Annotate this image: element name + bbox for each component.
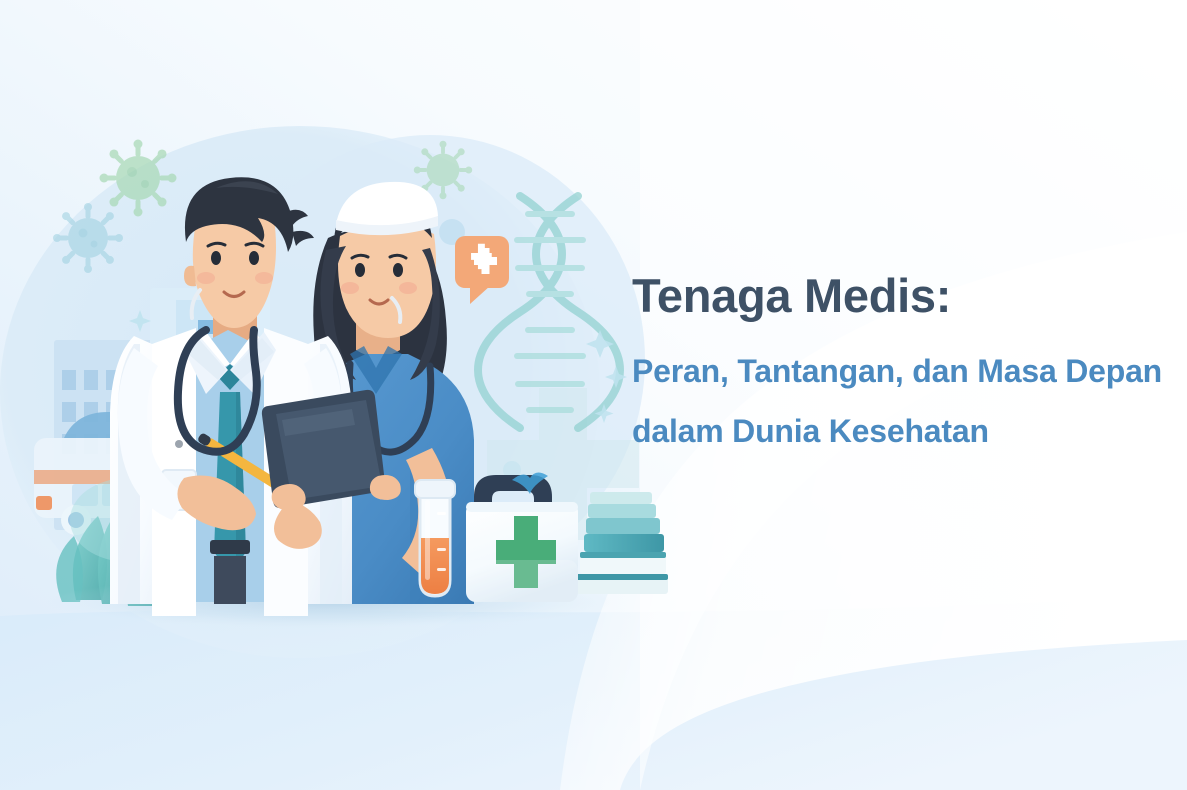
book-stack bbox=[576, 492, 668, 594]
page-title: Tenaga Medis: bbox=[632, 272, 1172, 319]
page-subtitle-line-2: dalam Dunia Kesehatan bbox=[632, 415, 1172, 447]
hero-banner: Tenaga Medis: Peran, Tantangan, dan Masa… bbox=[0, 0, 1187, 790]
hero-text-block: Tenaga Medis: Peran, Tantangan, dan Masa… bbox=[632, 272, 1172, 447]
test-tube bbox=[415, 480, 455, 596]
page-subtitle-line-1: Peran, Tantangan, dan Masa Depan bbox=[632, 355, 1172, 387]
